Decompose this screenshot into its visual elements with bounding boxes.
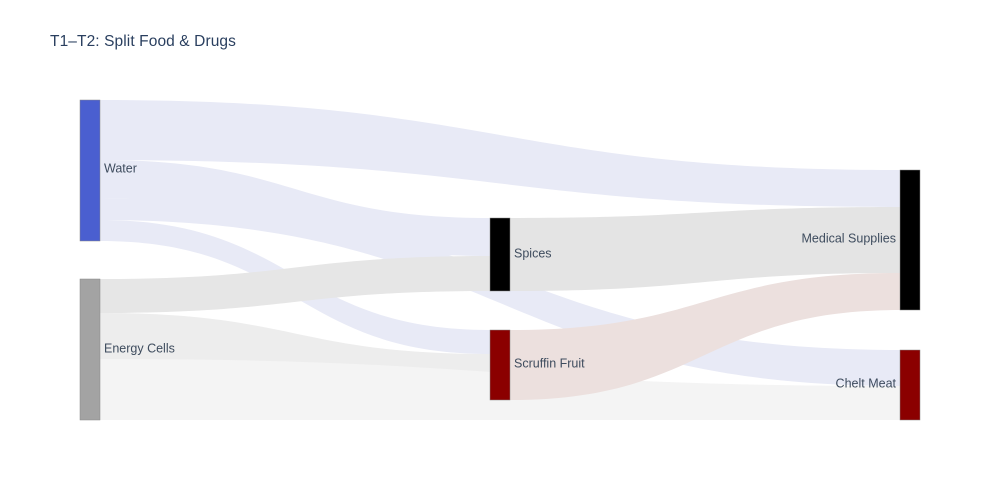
- sankey-node-label-medical-supplies: Medical Supplies: [802, 231, 897, 245]
- sankey-chart-container: T1–T2: Split Food & Drugs WaterEnergy Ce…: [0, 0, 1000, 500]
- sankey-node-spices[interactable]: [490, 218, 510, 291]
- sankey-node-label-spices: Spices: [514, 246, 552, 260]
- sankey-node-medical-supplies[interactable]: [900, 170, 920, 310]
- sankey-link-energy-to-spices[interactable]: [100, 256, 490, 313]
- sankey-node-chelt-meat[interactable]: [900, 350, 920, 420]
- sankey-node-water[interactable]: [80, 100, 100, 241]
- sankey-node-label-energy-cells: Energy Cells: [104, 341, 175, 355]
- sankey-node-label-scruffin-fruit: Scruffin Fruit: [514, 356, 585, 370]
- sankey-node-label-water: Water: [104, 161, 137, 175]
- sankey-node-label-chelt-meat: Chelt Meat: [836, 376, 897, 390]
- sankey-node-energy-cells[interactable]: [80, 279, 100, 420]
- sankey-node-scruffin-fruit[interactable]: [490, 330, 510, 400]
- sankey-diagram: WaterEnergy CellsSpicesScruffin FruitMed…: [0, 0, 1000, 500]
